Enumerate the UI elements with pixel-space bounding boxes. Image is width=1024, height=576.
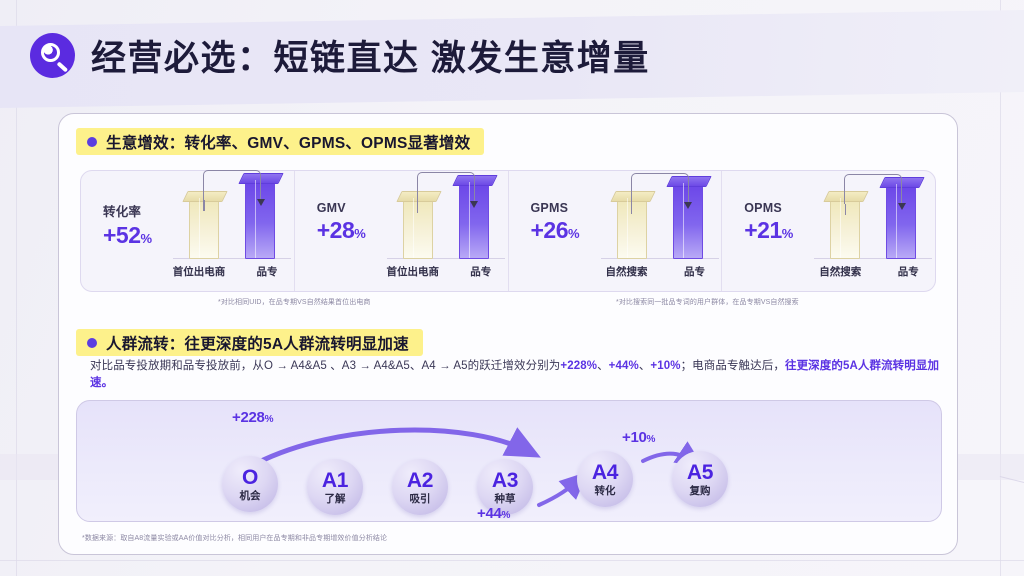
paragraph-sep-2: 、 (639, 360, 651, 372)
section-label: 生意增效：转化率、GMV、GPMS、OPMS显著增效 (106, 131, 470, 153)
bullet-dot-icon (87, 137, 97, 147)
funnel-node-label: 种草 (495, 494, 516, 505)
bracket-arrow-icon (898, 203, 906, 210)
metric-value-unit: % (141, 231, 152, 246)
bar-label-baseline: 自然搜索 (808, 264, 872, 279)
funnel-node-a5: A5复购 (672, 451, 728, 507)
paragraph-value-1: +228% (560, 360, 597, 372)
funnel-node-a2: A2吸引 (392, 459, 448, 515)
bar-label-baseline: 首位出电商 (381, 264, 445, 279)
slide-canvas: 经营必选：短链直达 激发生意增量 生意增效：转化率、GMV、GPMS、OPMS显… (0, 0, 1024, 576)
funnel-node-label: 复购 (690, 486, 711, 497)
funnel-node-o: O机会 (222, 456, 278, 512)
funnel-node-id: O (242, 467, 258, 488)
metric-name: OPMS (744, 201, 816, 215)
footnote-charts-left: *对比相同UID，在品专期VS自然结果首位出电商 (218, 297, 371, 307)
metric-value-number: +21 (744, 217, 782, 243)
metric-value-unit: % (568, 226, 579, 241)
metric-summary: GMV+28% (317, 201, 389, 244)
bar-axis-labels: 自然搜索品专 (595, 264, 727, 279)
bracket-tail (417, 202, 418, 213)
bg-diagonal-1 (1000, 476, 1024, 540)
bracket-arrow-icon (684, 202, 692, 209)
bar-label-baseline: 首位出电商 (167, 264, 231, 279)
paragraph-part1: 对比品专投放期和品专投放前，从O → A4&A5 、A3 → A4&A5、A4 … (90, 360, 560, 372)
funnel-node-id: A5 (687, 462, 713, 483)
edge-value-number: +44 (477, 505, 502, 522)
paragraph-value-3: +10% (650, 360, 680, 372)
metric-card: 转化率+52%首位出电商品专 (81, 171, 295, 291)
metric-card: GMV+28%首位出电商品专 (295, 171, 509, 291)
metric-value-unit: % (782, 226, 793, 241)
bracket-arrow-icon (470, 201, 478, 208)
funnel-node-id: A4 (592, 462, 618, 483)
bar-chart: 首位出电商品专 (173, 185, 291, 281)
metric-summary: 转化率+52% (103, 201, 175, 249)
bracket-tail (631, 203, 632, 214)
bracket-arrow-icon (257, 199, 265, 206)
funnel-node-label: 吸引 (410, 494, 431, 505)
funnel-node-label: 转化 (595, 486, 616, 497)
bar-sheen (199, 198, 200, 258)
bar-label-treatment: 品专 (663, 264, 727, 279)
bar-axis-labels: 自然搜索品专 (808, 264, 940, 279)
funnel-node-label: 了解 (325, 494, 346, 505)
bullet-dot-icon (87, 338, 97, 348)
paragraph-sep-1: 、 (597, 360, 609, 372)
metric-value-unit: % (354, 226, 365, 241)
magnifier-lens (41, 43, 60, 62)
funnel-node-id: A2 (407, 470, 433, 491)
audience-flow-paragraph: 对比品专投放期和品专投放前，从O → A4&A5 、A3 → A4&A5、A4 … (90, 358, 946, 392)
bar-sheen (413, 198, 414, 258)
section-label: 人群流转：往更深度的5A人群流转明显加速 (106, 332, 409, 354)
funnel-edge-label-o-to-a3: +228% (232, 409, 273, 426)
metric-name: GPMS (531, 201, 603, 215)
metric-cards-strip: 转化率+52%首位出电商品专GMV+28%首位出电商品专GPMS+26%自然搜索… (80, 170, 936, 292)
bar-label-treatment: 品专 (449, 264, 513, 279)
bar-axis-labels: 首位出电商品专 (167, 264, 299, 279)
edge-value-unit: % (265, 414, 274, 425)
bg-line-bottom (0, 560, 1024, 561)
funnel-node-a1: A1了解 (307, 459, 363, 515)
comparison-bracket (631, 173, 689, 203)
edge-value-number: +10 (622, 429, 647, 446)
edge-value-number: +228 (232, 409, 265, 426)
metric-name: GMV (317, 201, 389, 215)
metric-card: OPMS+21%自然搜索品专 (722, 171, 935, 291)
metric-value: +28% (317, 217, 389, 244)
bar-chart: 首位出电商品专 (387, 185, 505, 281)
funnel-edge-label-a4-to-a5: +10% (622, 429, 655, 446)
bar-sheen (840, 198, 841, 258)
funnel-node-a4: A4转化 (577, 451, 633, 507)
metric-value: +26% (531, 217, 603, 244)
metric-name: 转化率 (103, 201, 175, 220)
metric-summary: OPMS+21% (744, 201, 816, 244)
metric-value: +21% (744, 217, 816, 244)
metric-value-number: +26 (531, 217, 569, 243)
bar-axis-labels: 首位出电商品专 (381, 264, 513, 279)
metric-card: GPMS+26%自然搜索品专 (509, 171, 723, 291)
comparison-bracket (844, 174, 902, 204)
bracket-tail (203, 200, 204, 211)
paragraph-value-2: +44% (609, 360, 639, 372)
footnote-bottom: *数据来源：取自A8流量实验或AA价值对比分析，相同用户在品专期和非品专期增效价… (82, 533, 387, 543)
metric-summary: GPMS+26% (531, 201, 603, 244)
page-title: 经营必选：短链直达 激发生意增量 (91, 30, 650, 81)
bar-label-baseline: 自然搜索 (595, 264, 659, 279)
section-header-audience-flow: 人群流转：往更深度的5A人群流转明显加速 (76, 329, 423, 356)
magnifier-icon (30, 33, 75, 78)
funnel-node-label: 机会 (240, 491, 261, 502)
edge-value-unit: % (647, 434, 656, 445)
bar-sheen (627, 198, 628, 258)
bar-label-treatment: 品专 (876, 264, 940, 279)
edge-value-unit: % (502, 510, 511, 521)
metric-value-number: +52 (103, 222, 141, 248)
funnel-node-id: A1 (322, 470, 348, 491)
metric-value: +52% (103, 222, 175, 249)
section-header-business-growth: 生意增效：转化率、GMV、GPMS、OPMS显著增效 (76, 128, 484, 155)
funnel-edge-label-a3-to-a4: +44% (477, 505, 510, 522)
bar-chart: 自然搜索品专 (601, 185, 719, 281)
bar-chart: 自然搜索品专 (814, 185, 932, 281)
bracket-tail (845, 204, 846, 215)
magnifier-handle (57, 61, 68, 72)
footnote-charts-right: *对比搜索同一批品专词的用户群体，在品专期VS自然搜索 (616, 297, 799, 307)
bar-label-treatment: 品专 (235, 264, 299, 279)
paragraph-part2: ；电商品专触达后， (681, 360, 785, 372)
metric-value-number: +28 (317, 217, 355, 243)
comparison-bracket (203, 170, 261, 200)
comparison-bracket (417, 172, 475, 202)
funnel-panel: O机会A1了解A2吸引A3种草A4转化A5复购+228%+44%+10% (76, 400, 942, 522)
funnel-node-id: A3 (492, 470, 518, 491)
header: 经营必选：短链直达 激发生意增量 (30, 30, 650, 81)
